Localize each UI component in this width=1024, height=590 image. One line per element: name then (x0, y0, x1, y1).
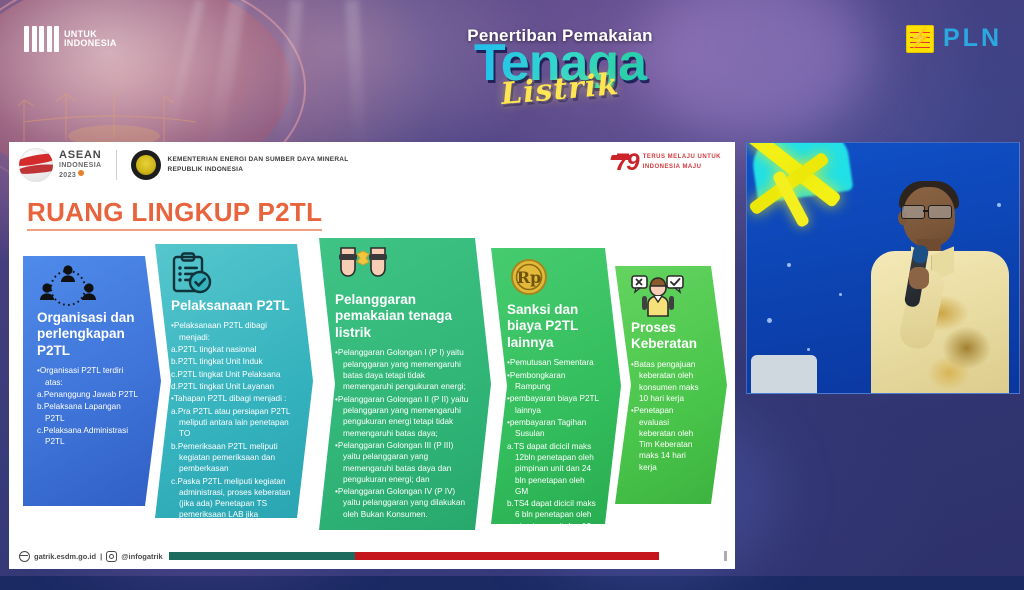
bumn-logo-mark (24, 26, 59, 52)
list-item: Penetapan evaluasi keberatan oleh Tim Ke… (631, 405, 705, 473)
footer-color-bars (169, 552, 659, 560)
panel-organisasi[interactable]: Organisasi dan perlengkapan P2TL Organis… (23, 256, 161, 506)
list-item: c.P2TL tingkat Unit Pelaksana (171, 369, 291, 380)
panel-pelanggaran-list: Pelanggaran Golongan I (P I) yaitu pelan… (335, 347, 469, 520)
ministry-name-line2: REPUBLIK INDONESIA (168, 165, 349, 175)
pln-bolt-icon: ⚡ (906, 25, 934, 53)
panel-pelaksanaan-heading: Pelaksanaan P2TL (171, 298, 291, 314)
list-item: Organisasi P2TL terdiri atas: (37, 365, 139, 388)
panel-sanksi[interactable]: Rp Sanksi dan biaya P2TL lainnya Pemutus… (491, 248, 621, 524)
slide-footer: gatrik.esdm.go.id | @infogatrik (9, 547, 735, 569)
list-item: a.P2TL tingkat nasional (171, 344, 291, 355)
asean-dot-icon (78, 170, 84, 176)
asean-year-label: 2023 (59, 172, 76, 179)
asean-logo: ASEAN INDONESIA 2023 (19, 148, 102, 182)
list-item: Pelanggaran Golongan III (P III) yaitu p… (335, 440, 469, 485)
presentation-slide: ASEAN INDONESIA 2023 KEMENTERIAN ENERGI … (9, 142, 735, 569)
process-arrow-panels: Organisasi dan perlengkapan P2TL Organis… (9, 238, 735, 548)
anniversary-logo: 79 TERUS MELAJU UNTUK INDONESIA MAJU (615, 151, 721, 175)
list-item: Pembongkaran Rampung (507, 370, 599, 393)
ministry-logo: KEMENTERIAN ENERGI DAN SUMBER DAYA MINER… (131, 150, 349, 180)
panel-pelanggaran-heading: Pelanggaran pemakaian tenaga listrik (335, 292, 469, 341)
list-item: pembayaran Tagihan Susulan (507, 417, 599, 440)
list-item: Pelanggaran Golongan IV (P IV) yaitu pel… (335, 486, 469, 520)
bumn-logo-text: UNTUK INDONESIA (64, 30, 117, 48)
list-item: b.P2TL tingkat Unit Induk (171, 356, 291, 367)
list-item: b.Pelaksana Lapangan P2TL (37, 401, 139, 424)
panel-keberatan-list: Batas pengajuan keberatan oleh konsumen … (631, 359, 705, 473)
clipboard-check-icon (171, 252, 291, 296)
list-item: Pelaksanaan P2TL dibagi menjadi: (171, 320, 291, 343)
list-item: a.TS dapat dicicil maks 12bln penetapan … (507, 441, 599, 498)
garuda-emblem-icon (131, 150, 161, 180)
svg-text:Rp: Rp (517, 268, 541, 287)
list-item: Batas pengajuan keberatan oleh konsumen … (631, 359, 705, 404)
instagram-icon (106, 551, 117, 562)
footer-website: gatrik.esdm.go.id (34, 552, 96, 561)
stage-chair (751, 355, 817, 393)
panel-sanksi-heading: Sanksi dan biaya P2TL lainnya (507, 302, 599, 351)
anniversary-line1: TERUS MELAJU UNTUK (643, 153, 721, 163)
eyeglasses-icon (901, 205, 957, 218)
panel-keberatan[interactable]: Proses Keberatan Batas pengajuan keberat… (615, 266, 727, 504)
ministry-name-line1: KEMENTERIAN ENERGI DAN SUMBER DAYA MINER… (168, 155, 349, 165)
panel-sanksi-list: Pemutusan Sementara Pembongkaran Rampung… (507, 357, 599, 554)
speaker-figure (865, 181, 1015, 393)
list-item: b.Pemeriksaan P2TL meliputi kegiatan pem… (171, 441, 291, 475)
list-item: Pelanggaran Golongan I (P I) yaitu pelan… (335, 347, 469, 392)
list-item: pembayaran biaya P2TL lainnya (507, 393, 599, 416)
panel-pelaksanaan[interactable]: Pelaksanaan P2TL Pelaksanaan P2TL dibagi… (155, 244, 313, 518)
footer-separator: | (100, 552, 102, 561)
panel-pelaksanaan-list: Pelaksanaan P2TL dibagi menjadi: a.P2TL … (171, 320, 291, 532)
speaker-hand (909, 267, 929, 289)
panel-keberatan-heading: Proses Keberatan (631, 320, 705, 353)
list-item: c.Pelaksana Administrasi P2TL (37, 425, 139, 448)
header-divider (116, 150, 117, 180)
panel-organisasi-heading: Organisasi dan perlengkapan P2TL (37, 310, 139, 359)
slide-page-marker (724, 551, 727, 561)
list-item: d.P2TL tingkat Unit Layanan (171, 381, 291, 392)
panel-pelanggaran[interactable]: Pelanggaran pemakaian tenaga listrik Pel… (319, 238, 491, 530)
anniversary-number: 79 (615, 151, 638, 175)
slide-footer-contacts: gatrik.esdm.go.id | @infogatrik (19, 551, 163, 562)
panel-organisasi-list: Organisasi P2TL terdiri atas: a.Penanggu… (37, 365, 139, 447)
complaint-person-icon (631, 274, 705, 318)
footer-instagram: @infogatrik (121, 552, 162, 561)
slide-title: RUANG LINGKUP P2TL (27, 197, 322, 231)
list-item: a.Penanggung Jawab P2TL (37, 389, 139, 400)
anniversary-line2: INDONESIA MAJU (643, 163, 721, 173)
people-network-icon (37, 264, 139, 308)
event-title: Penertiban Pemakaian Tenaga Listrik (415, 26, 705, 107)
globe-icon (19, 551, 30, 562)
bumn-indonesia-label: INDONESIA (64, 39, 117, 48)
slide-header: ASEAN INDONESIA 2023 KEMENTERIAN ENERGI … (9, 142, 735, 190)
list-item: Pelanggaran Golongan II (P II) yaitu pel… (335, 394, 469, 439)
asean-globe-icon (19, 148, 53, 182)
handcuffs-icon (335, 246, 469, 290)
pln-logo: ⚡ PLN (906, 24, 1002, 53)
list-item: a.Pra P2TL atau persiapan P2TL meliputi … (171, 406, 291, 440)
pln-logo-text: PLN (943, 24, 1002, 53)
list-item: Tahapan P2TL dibagi menjadi : (171, 393, 291, 404)
list-item: c.Paska P2TL meliputi kegiatan administr… (171, 476, 291, 533)
rupiah-coin-icon: Rp (507, 256, 599, 300)
asean-country-label: INDONESIA (59, 162, 102, 170)
bumn-logo: UNTUK INDONESIA (24, 26, 117, 52)
asean-label: ASEAN (59, 150, 102, 162)
speaker-video-feed[interactable] (746, 142, 1020, 394)
list-item: Pemutusan Sementara (507, 357, 599, 368)
